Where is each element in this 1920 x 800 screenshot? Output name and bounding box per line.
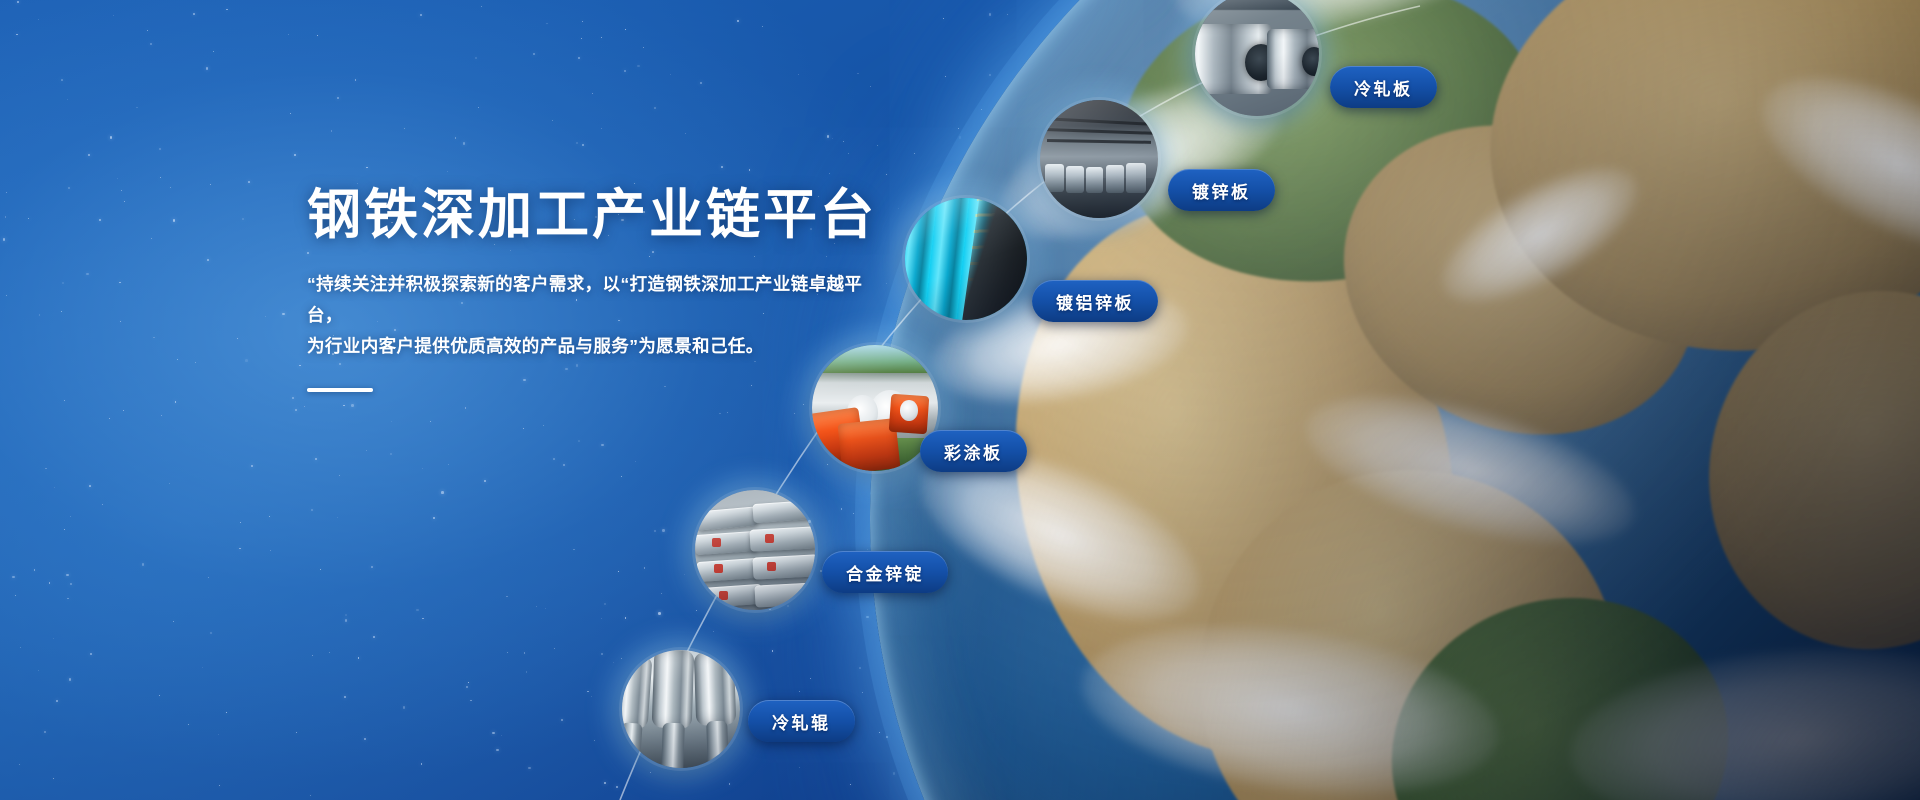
alu-zinc-coil-icon[interactable] [905,198,1027,320]
hero-banner: 钢铁深加工产业链平台 “持续关注并积极探索新的客户需求，以“打造钢铁深加工产业链… [0,0,1920,800]
product-label-zinc-alloy-ingot[interactable]: 合金锌锭 [822,551,948,593]
earth-globe [870,0,1920,800]
warehouse-coil-icon[interactable] [1040,100,1158,218]
product-label-cold-rolling-roll[interactable]: 冷轧辊 [748,700,855,742]
product-label-cold-rolled-plate[interactable]: 冷轧板 [1330,66,1437,108]
product-label-alu-zinc-plate[interactable]: 镀铝锌板 [1032,280,1158,322]
product-label-color-coated-plate[interactable]: 彩涂板 [920,430,1027,472]
page-title: 钢铁深加工产业链平台 [307,185,927,247]
product-label-galvanized-plate[interactable]: 镀锌板 [1168,169,1275,211]
page-subtitle: “持续关注并积极探索新的客户需求，以“打造钢铁深加工产业链卓越平台， 为行业内客… [307,269,877,362]
rolling-roll-icon[interactable] [622,650,740,768]
zinc-ingot-icon[interactable] [695,490,815,610]
subtitle-line-2: 为行业内客户提供优质高效的产品与服务”为愿景和己任。 [307,336,764,356]
title-underline-rule [307,388,373,392]
subtitle-line-1: “持续关注并积极探索新的客户需求，以“打造钢铁深加工产业链卓越平台， [307,274,862,325]
steel-coil-icon[interactable] [1195,0,1319,116]
